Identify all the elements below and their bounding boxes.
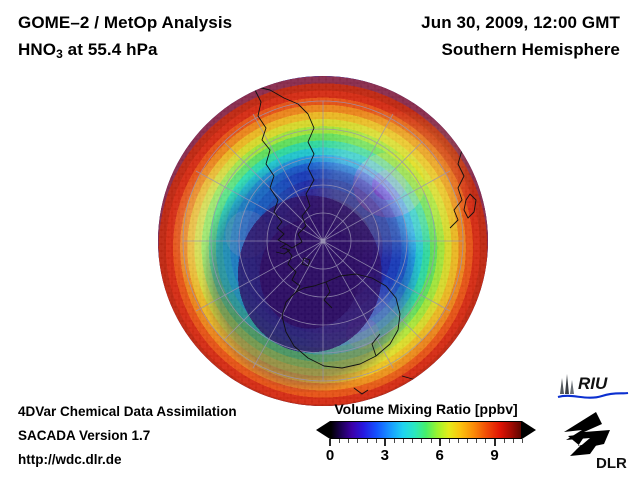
colorbar-minor-tick [367,439,368,443]
globe-disc [158,76,488,406]
riu-wordmark: RIU [578,374,608,393]
species-level-label: HNO3 at 55.4 hPa [18,40,158,61]
colorbar-major-tick [329,439,331,446]
colorbar-minor-tick [357,439,358,443]
colorbar-minor-tick [348,439,349,443]
page-title: GOME–2 / MetOp Analysis [18,13,232,33]
colorbar-tick-labels: 0369 [316,447,536,467]
riu-tower-icon [560,374,574,394]
species-name: HNO [18,40,56,59]
colorbar-minor-tick [449,439,450,443]
riu-logo: RIU [556,372,630,402]
colorbar-gradient [330,421,522,439]
colorbar-tick-label: 9 [490,447,498,464]
colorbar-extend-high-arrow [522,421,536,439]
colorbar-minor-tick [431,439,432,443]
colorbar-tick-label: 6 [436,447,444,464]
colorbar-title: Volume Mixing Ratio [ppbv] [317,401,535,417]
colorbar-minor-tick [421,439,422,443]
colorbar-tick-label: 3 [381,447,389,464]
valid-time-label: Jun 30, 2009, 12:00 GMT [421,13,620,33]
footer-url[interactable]: http://wdc.dlr.de [18,452,122,467]
colorbar-minor-tick [403,439,404,443]
colorbar-major-tick [439,439,441,446]
colorbar-major-tick [494,439,496,446]
colorbar-minor-tick [339,439,340,443]
dlr-wordmark: DLR [596,455,627,472]
colorbar-minor-tick [504,439,505,443]
colorbar-minor-tick [485,439,486,443]
region-label: Southern Hemisphere [441,40,620,60]
colorbar-minor-tick [467,439,468,443]
colorbar [316,421,536,439]
pressure-level: at 55.4 hPa [63,40,158,59]
colorbar-major-tick [384,439,386,446]
footer-method: 4DVar Chemical Data Assimilation [18,404,237,419]
footer-version: SACADA Version 1.7 [18,428,150,443]
coastlines [158,76,488,406]
colorbar-tick-label: 0 [326,447,334,464]
colorbar-minor-tick [412,439,413,443]
polar-map [158,76,488,406]
dlr-arrow-icon [564,412,610,456]
species-subscript: 3 [56,47,63,61]
dlr-logo: DLR [560,410,630,472]
colorbar-minor-tick [522,439,523,443]
colorbar-ticks [316,439,536,446]
colorbar-extend-low-arrow [316,421,330,439]
colorbar-minor-tick [394,439,395,443]
colorbar-minor-tick [376,439,377,443]
colorbar-minor-tick [476,439,477,443]
colorbar-minor-tick [513,439,514,443]
colorbar-minor-tick [458,439,459,443]
